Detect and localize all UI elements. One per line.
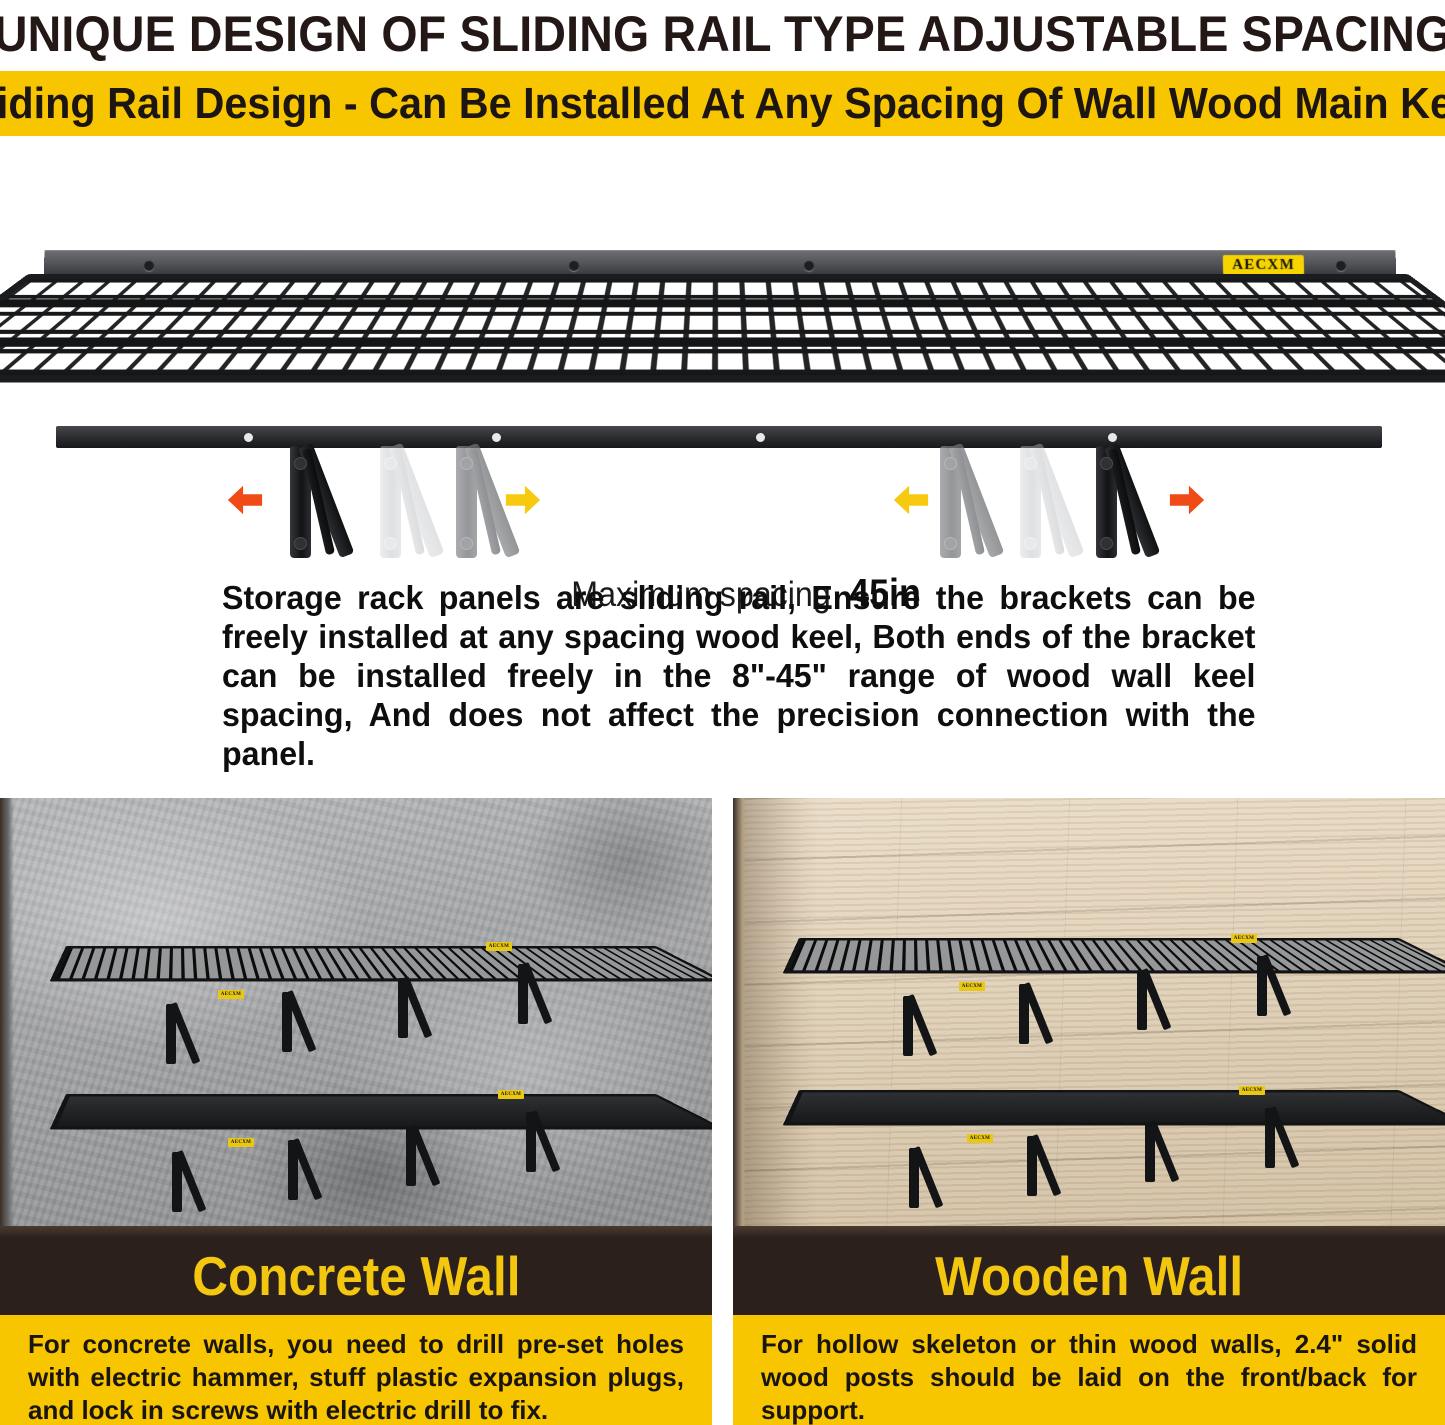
brand-label: AECXM <box>228 1138 254 1147</box>
mounting-hole <box>144 261 154 271</box>
bracket-screw <box>385 538 396 549</box>
description-paragraph: Storage rack panels are sliding rail, En… <box>222 578 1256 773</box>
shelf-bracket <box>518 964 548 1024</box>
photo-left-edge <box>733 798 746 1237</box>
wooden-wall-photo: AECXM AECXM AECXM AECXM <box>733 798 1445 1237</box>
bracket-right-installed <box>1096 446 1156 558</box>
bracket-screw <box>945 458 956 469</box>
arrow-left-orange-icon <box>226 482 264 518</box>
shelf-bracket <box>1265 1108 1295 1168</box>
panel-concrete-wall: AECXM AECXM AECXM AECXM Concrete Wall <box>0 798 712 1425</box>
bracket-left-installed <box>290 446 350 558</box>
mounted-shelf-upper: AECXM AECXM <box>66 946 656 1056</box>
page-title-text: UNIQUE DESIGN OF SLIDING RAIL TYPE ADJUS… <box>0 9 1445 59</box>
caption-body-concrete: For concrete walls, you need to drill pr… <box>0 1315 712 1425</box>
shelf-bracket <box>406 1126 436 1186</box>
bracket-right-ghost-position <box>1020 446 1080 558</box>
front-rail-hole <box>492 433 501 442</box>
deck-rib <box>0 373 1445 382</box>
panel-wooden-wall: AECXM AECXM AECXM AECXM Wooden Wall <box>733 798 1445 1425</box>
photo-floor-line <box>0 1226 712 1237</box>
shelf-deck <box>783 1090 1445 1126</box>
photo-left-edge <box>0 798 14 1237</box>
concrete-wall-photo: AECXM AECXM AECXM AECXM <box>0 798 712 1237</box>
shelf-bracket <box>909 1148 939 1208</box>
bracket-right-alt-position <box>940 446 1000 558</box>
bracket-screw <box>945 538 956 549</box>
arrow-right-orange-icon <box>1168 482 1206 518</box>
shelf-bracket <box>1019 984 1049 1044</box>
brand-label: AECXM <box>498 1090 524 1099</box>
brand-label: AECXM <box>959 982 985 991</box>
front-rail-hole <box>756 433 765 442</box>
brand-label: AECXM <box>1223 255 1304 275</box>
caption-body-wooden: For hollow skeleton or thin wood walls, … <box>733 1315 1445 1425</box>
mounting-hole <box>804 261 814 271</box>
caption-heading-text: Concrete Wall <box>192 1249 520 1304</box>
hero-product-illustration: AECXM <box>0 140 1445 560</box>
deck-rib <box>0 299 1443 307</box>
shelf-deck <box>50 1094 712 1130</box>
caption-heading-text: Wooden Wall <box>935 1249 1243 1304</box>
brand-label: AECXM <box>1239 1086 1265 1095</box>
brand-label: AECXM <box>218 990 244 999</box>
shelf-bracket <box>1145 1122 1175 1182</box>
mounted-shelf-lower: AECXM AECXM <box>66 1094 656 1204</box>
shelf-bracket <box>288 1140 318 1200</box>
brand-label: AECXM <box>967 1134 993 1143</box>
wire-mesh-surface <box>0 274 1445 382</box>
shelf-front-rail <box>56 426 1382 448</box>
caption-body-text: For concrete walls, you need to drill pr… <box>28 1328 684 1425</box>
brand-label: AECXM <box>1231 934 1257 943</box>
caption-body-text: For hollow skeleton or thin wood walls, … <box>761 1328 1417 1425</box>
shelf-bracket <box>1027 1136 1057 1196</box>
bracket-screw <box>295 538 306 549</box>
bracket-left-ghost-position <box>380 446 440 558</box>
front-rail-hole <box>1108 433 1117 442</box>
shelf-bracket <box>282 992 312 1052</box>
wall-type-panels: AECXM AECXM AECXM AECXM Concrete Wall <box>0 798 1445 1425</box>
subtitle-banner: Sliding Rail Design - Can Be Installed A… <box>0 71 1445 136</box>
shelf-bracket <box>166 1004 196 1064</box>
mounting-hole <box>569 261 579 271</box>
bracket-screw <box>1025 538 1036 549</box>
mesh-horizontal-wires <box>0 279 1445 375</box>
bracket-screw <box>461 458 472 469</box>
mounted-shelf-upper: AECXM AECXM <box>799 938 1399 1048</box>
shelf-bracket <box>903 996 933 1056</box>
shelf-bracket <box>172 1152 202 1212</box>
arrow-left-yellow-icon <box>892 482 930 518</box>
shelf-bracket <box>526 1112 556 1172</box>
shelf-deck <box>50 946 712 982</box>
deck-rib <box>0 337 1445 346</box>
brand-label: AECXM <box>486 942 512 951</box>
page-title: UNIQUE DESIGN OF SLIDING RAIL TYPE ADJUS… <box>0 0 1445 68</box>
shelf-deck <box>783 938 1445 974</box>
caption-header-concrete: Concrete Wall <box>0 1237 712 1315</box>
bracket-screw <box>1101 458 1112 469</box>
subtitle-text: Sliding Rail Design - Can Be Installed A… <box>0 82 1445 126</box>
shelf-bracket <box>398 978 428 1038</box>
bracket-screw <box>1101 538 1112 549</box>
arrow-right-yellow-icon <box>504 482 542 518</box>
shelf-bracket <box>1257 956 1287 1016</box>
mounting-hole <box>1336 261 1346 271</box>
front-rail-hole <box>244 433 253 442</box>
mounted-shelf-lower: AECXM AECXM <box>799 1090 1399 1200</box>
bracket-screw <box>385 458 396 469</box>
bracket-screw <box>1025 458 1036 469</box>
bracket-screw <box>461 538 472 549</box>
shelf-bracket <box>1137 970 1167 1030</box>
shelf-wire-deck <box>0 274 1445 382</box>
caption-header-wooden: Wooden Wall <box>733 1237 1445 1315</box>
bracket-screw <box>295 458 306 469</box>
photo-floor-line <box>733 1226 1445 1237</box>
